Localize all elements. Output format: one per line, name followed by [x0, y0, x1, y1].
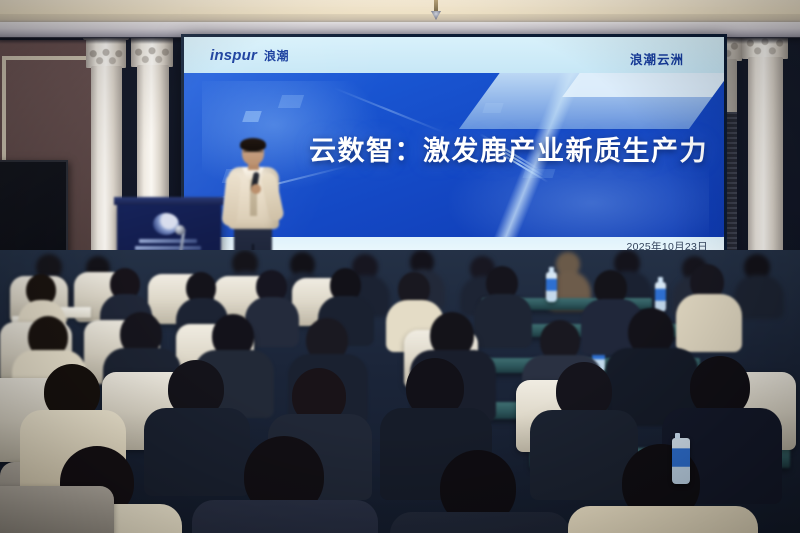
ceiling-sprinkler-icon: [430, 0, 442, 22]
person-body: [474, 294, 532, 348]
person-body: [144, 408, 250, 496]
speaker-hair: [240, 138, 266, 151]
conference-photo: inspur 浪潮 浪潮云洲: [0, 0, 800, 533]
circuit-chip: [278, 95, 304, 108]
water-bottle: [546, 272, 557, 302]
lectern-microphone-icon: [175, 225, 185, 235]
person-body: [676, 294, 742, 352]
water-bottle: [672, 438, 690, 484]
inspur-logo: inspur 浪潮: [210, 47, 289, 64]
audience-area: [0, 250, 800, 533]
slide-header: inspur 浪潮 浪潮云洲: [184, 37, 724, 73]
person-body: [390, 512, 570, 533]
person-body: [568, 506, 758, 533]
speaker-glasses-icon: [243, 151, 263, 155]
inspur-logo-chinese: 浪潮: [264, 47, 289, 64]
inspur-logo-latin: inspur: [210, 47, 257, 64]
lectern-text-line: [139, 239, 197, 243]
person-body: [192, 500, 378, 533]
lectern-top: [114, 197, 224, 205]
slide-light-wedge-bright: [562, 73, 724, 97]
brand-right-label: 浪潮云洲: [630, 49, 684, 68]
chair-back: [0, 486, 114, 533]
water-bottle: [655, 282, 666, 312]
slide-title: 云数智：激发鹿产业新质生产力: [309, 129, 708, 168]
speaker-hand: [251, 184, 261, 194]
